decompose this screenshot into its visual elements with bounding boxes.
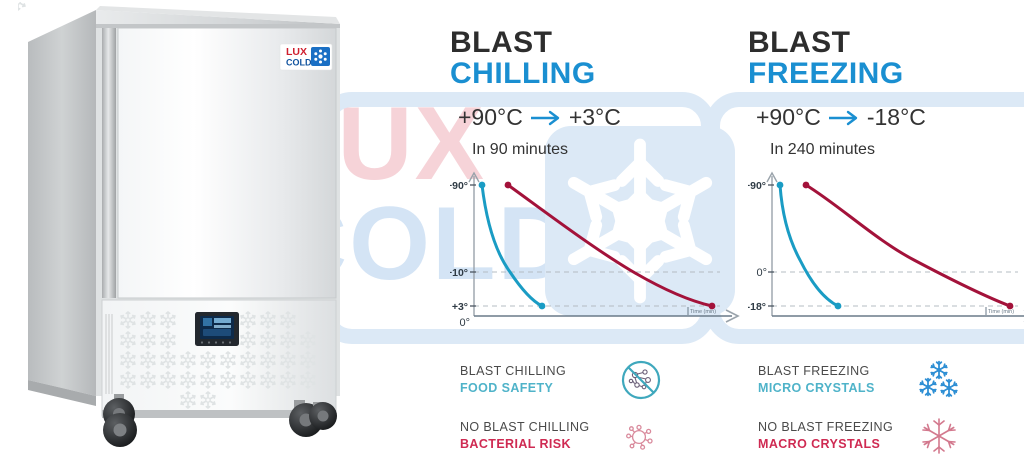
freezing-chart: +90° 0° -18° Time (min)	[748, 168, 1024, 333]
legend-item: NO BLAST FREEZING MACRO CRYSTALS	[758, 416, 1024, 456]
point-start-no-freezing	[803, 182, 810, 189]
heading-blast-freezing: BLAST FREEZING	[748, 28, 904, 89]
legend-label: NO BLAST FREEZING	[758, 419, 908, 436]
point-start-no-chilling	[505, 182, 512, 189]
lux-cold-logo: LUX COLD	[280, 44, 332, 70]
heading-line2: FREEZING	[748, 59, 904, 90]
ytick-90: +90°	[748, 180, 766, 192]
duration-freezing: In 240 minutes	[770, 141, 875, 159]
legend-label: NO BLAST CHILLING	[460, 419, 610, 436]
legend-item: BLAST CHILLING FOOD SAFETY	[460, 360, 750, 400]
ytick-0: 0°	[459, 317, 470, 329]
legend-value: FOOD SAFETY	[460, 380, 610, 397]
arrow-right-icon	[828, 110, 860, 126]
temp-from: +90°C	[458, 104, 523, 131]
point-start-freezing	[777, 182, 784, 189]
legend-value: MICRO CRYSTALS	[758, 380, 908, 397]
series-no-blast-chilling	[508, 185, 712, 306]
bacteria-icon	[610, 413, 672, 459]
column-blast-freezing: BLAST FREEZING +90°C -18°C In 240 minute…	[748, 0, 1024, 470]
temp-to: +3°C	[569, 104, 621, 131]
duration-chilling: In 90 minutes	[472, 141, 568, 159]
legend-value: BACTERIAL RISK	[460, 436, 610, 453]
macro-crystal-icon	[908, 413, 970, 459]
temperature-range-freezing: +90°C -18°C	[756, 104, 926, 131]
legend-label: BLAST FREEZING	[758, 363, 908, 380]
blast-chiller-cabinet: LUX COLD	[18, 2, 358, 468]
micro-crystals-icon	[908, 357, 970, 403]
series-no-blast-freezing	[806, 185, 1010, 306]
ytick-90: +90°	[450, 180, 468, 192]
legend-label: BLAST CHILLING	[460, 363, 610, 380]
ytick-minus18: -18°	[748, 301, 766, 313]
point-end-no-chilling	[709, 303, 716, 310]
point-end-chilling	[539, 303, 546, 310]
ytick-10: +10°	[450, 267, 468, 279]
legend-freezing: BLAST FREEZING MICRO CRYSTALS	[758, 360, 1024, 470]
series-blast-freezing	[780, 185, 838, 306]
heading-blast-chilling: BLAST CHILLING	[450, 28, 596, 89]
legend-chilling: BLAST CHILLING FOOD SAFETY	[460, 360, 750, 470]
arrow-right-icon	[530, 110, 562, 126]
temp-from: +90°C	[756, 104, 821, 131]
point-end-freezing	[835, 303, 842, 310]
chilling-chart: +90° +10° +3° 0° Time (min)	[450, 168, 750, 333]
infographic-stage: LUX COLD	[0, 0, 1024, 470]
temp-to: -18°C	[867, 104, 926, 131]
point-start-chilling	[479, 182, 486, 189]
svg-text:COLD: COLD	[286, 58, 312, 68]
ytick-3: +3°	[452, 301, 468, 313]
temperature-range-chilling: +90°C +3°C	[458, 104, 621, 131]
legend-item: BLAST FREEZING MICRO CRYSTALS	[758, 360, 1024, 400]
legend-value: MACRO CRYSTALS	[758, 436, 908, 453]
column-blast-chilling: BLAST CHILLING +90°C +3°C In 90 minutes	[450, 0, 750, 470]
svg-text:LUX: LUX	[286, 46, 307, 58]
control-panel-display[interactable]	[195, 312, 239, 346]
xaxis-label: Time (min)	[690, 309, 716, 315]
ytick-0: 0°	[756, 267, 767, 279]
heading-line1: BLAST	[450, 28, 596, 59]
xaxis-label: Time (min)	[988, 309, 1014, 315]
legend-item: NO BLAST CHILLING BACTERIAL RISK	[460, 416, 750, 456]
point-end-no-freezing	[1007, 303, 1014, 310]
heading-line2: CHILLING	[450, 59, 596, 90]
heading-line1: BLAST	[748, 28, 904, 59]
no-bacteria-icon	[610, 357, 672, 403]
